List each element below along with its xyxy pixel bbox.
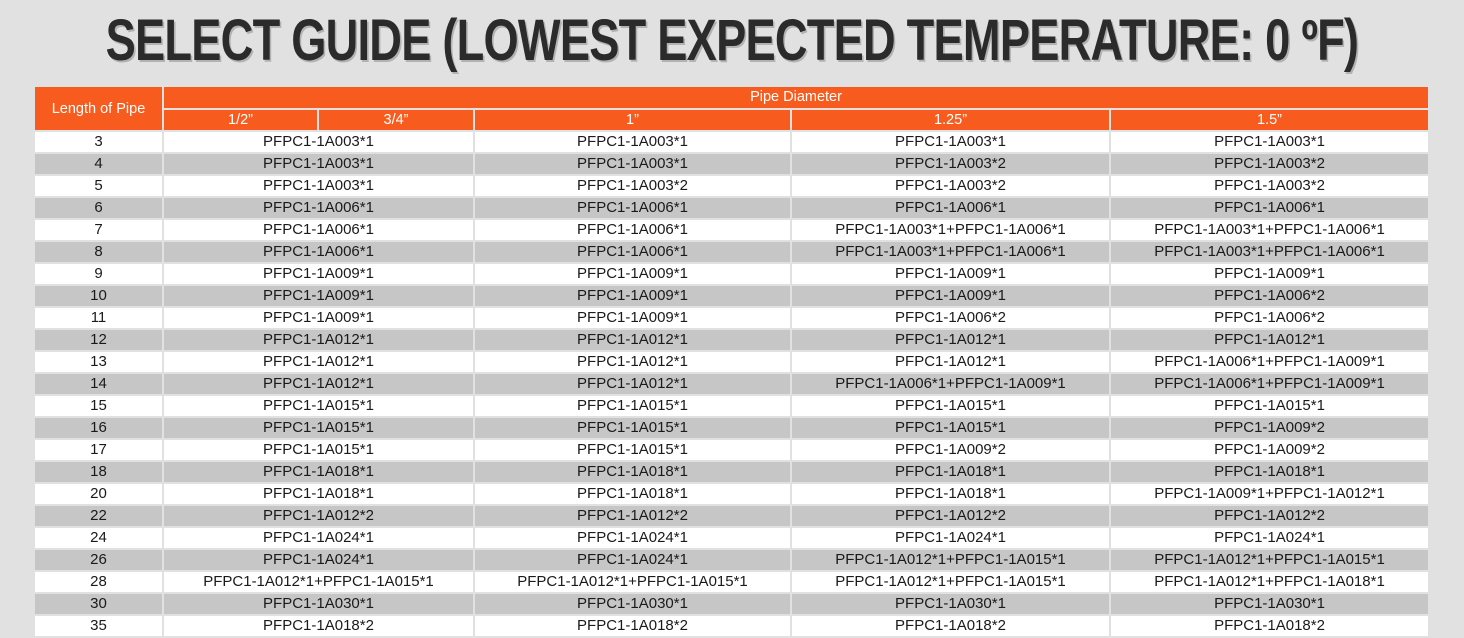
cell-one-inch: PFPC1-1A012*1+PFPC1-1A015*1	[475, 572, 790, 592]
cell-one-inch: PFPC1-1A009*1	[475, 264, 790, 284]
cell-one-quarter-inch: PFPC1-1A006*1+PFPC1-1A009*1	[792, 374, 1109, 394]
table-header-row-sizes: 1/2” 3/4” 1” 1.25” 1.5”	[35, 110, 1428, 130]
cell-one-inch: PFPC1-1A018*2	[475, 616, 790, 636]
cell-length-of-pipe: 4	[35, 154, 162, 174]
cell-half-and-three-quarter-inch: PFPC1-1A006*1	[164, 198, 473, 218]
cell-one-half-inch: PFPC1-1A012*2	[1111, 506, 1428, 526]
cell-half-and-three-quarter-inch: PFPC1-1A012*2	[164, 506, 473, 526]
table-row: 18PFPC1-1A018*1PFPC1-1A018*1PFPC1-1A018*…	[35, 462, 1428, 482]
cell-one-quarter-inch: PFPC1-1A006*2	[792, 308, 1109, 328]
cell-one-inch: PFPC1-1A024*1	[475, 550, 790, 570]
cell-half-and-three-quarter-inch: PFPC1-1A012*1+PFPC1-1A015*1	[164, 572, 473, 592]
cell-one-half-inch: PFPC1-1A012*1+PFPC1-1A015*1	[1111, 550, 1428, 570]
cell-length-of-pipe: 5	[35, 176, 162, 196]
cell-half-and-three-quarter-inch: PFPC1-1A012*1	[164, 352, 473, 372]
cell-length-of-pipe: 17	[35, 440, 162, 460]
cell-one-half-inch: PFPC1-1A024*1	[1111, 528, 1428, 548]
cell-one-half-inch: PFPC1-1A030*1	[1111, 594, 1428, 614]
cell-one-half-inch: PFPC1-1A018*2	[1111, 616, 1428, 636]
cell-half-and-three-quarter-inch: PFPC1-1A012*1	[164, 330, 473, 350]
table-row: 5PFPC1-1A003*1PFPC1-1A003*2PFPC1-1A003*2…	[35, 176, 1428, 196]
cell-one-half-inch: PFPC1-1A009*1	[1111, 264, 1428, 284]
cell-half-and-three-quarter-inch: PFPC1-1A012*1	[164, 374, 473, 394]
cell-one-inch: PFPC1-1A015*1	[475, 396, 790, 416]
table-row: 9PFPC1-1A009*1PFPC1-1A009*1PFPC1-1A009*1…	[35, 264, 1428, 284]
cell-length-of-pipe: 6	[35, 198, 162, 218]
cell-length-of-pipe: 14	[35, 374, 162, 394]
cell-length-of-pipe: 30	[35, 594, 162, 614]
cell-length-of-pipe: 15	[35, 396, 162, 416]
cell-one-inch: PFPC1-1A015*1	[475, 418, 790, 438]
cell-half-and-three-quarter-inch: PFPC1-1A018*1	[164, 462, 473, 482]
column-header-half-inch: 1/2”	[164, 110, 317, 130]
cell-one-half-inch: PFPC1-1A006*1	[1111, 198, 1428, 218]
table-row: 3PFPC1-1A003*1PFPC1-1A003*1PFPC1-1A003*1…	[35, 132, 1428, 152]
table-row: 10PFPC1-1A009*1PFPC1-1A009*1PFPC1-1A009*…	[35, 286, 1428, 306]
pipe-select-guide-table: Length of Pipe Pipe Diameter 1/2” 3/4” 1…	[33, 85, 1430, 638]
table-row: 16PFPC1-1A015*1PFPC1-1A015*1PFPC1-1A015*…	[35, 418, 1428, 438]
cell-one-half-inch: PFPC1-1A015*1	[1111, 396, 1428, 416]
cell-one-quarter-inch: PFPC1-1A012*1	[792, 352, 1109, 372]
cell-length-of-pipe: 10	[35, 286, 162, 306]
cell-one-quarter-inch: PFPC1-1A015*1	[792, 418, 1109, 438]
cell-one-inch: PFPC1-1A015*1	[475, 440, 790, 460]
cell-length-of-pipe: 26	[35, 550, 162, 570]
cell-one-quarter-inch: PFPC1-1A003*1	[792, 132, 1109, 152]
cell-one-half-inch: PFPC1-1A009*1+PFPC1-1A012*1	[1111, 484, 1428, 504]
table-row: 13PFPC1-1A012*1PFPC1-1A012*1PFPC1-1A012*…	[35, 352, 1428, 372]
column-header-one-inch: 1”	[475, 110, 790, 130]
table-row: 17PFPC1-1A015*1PFPC1-1A015*1PFPC1-1A009*…	[35, 440, 1428, 460]
cell-one-quarter-inch: PFPC1-1A003*2	[792, 176, 1109, 196]
cell-one-half-inch: PFPC1-1A018*1	[1111, 462, 1428, 482]
cell-one-inch: PFPC1-1A006*1	[475, 242, 790, 262]
cell-half-and-three-quarter-inch: PFPC1-1A015*1	[164, 440, 473, 460]
table-row: 20PFPC1-1A018*1PFPC1-1A018*1PFPC1-1A018*…	[35, 484, 1428, 504]
cell-one-quarter-inch: PFPC1-1A018*1	[792, 462, 1109, 482]
cell-half-and-three-quarter-inch: PFPC1-1A006*1	[164, 220, 473, 240]
cell-length-of-pipe: 35	[35, 616, 162, 636]
cell-length-of-pipe: 7	[35, 220, 162, 240]
cell-half-and-three-quarter-inch: PFPC1-1A009*1	[164, 308, 473, 328]
table-row: 24PFPC1-1A024*1PFPC1-1A024*1PFPC1-1A024*…	[35, 528, 1428, 548]
cell-one-half-inch: PFPC1-1A006*2	[1111, 308, 1428, 328]
table-row: 6PFPC1-1A006*1PFPC1-1A006*1PFPC1-1A006*1…	[35, 198, 1428, 218]
cell-length-of-pipe: 16	[35, 418, 162, 438]
cell-one-half-inch: PFPC1-1A006*1+PFPC1-1A009*1	[1111, 352, 1428, 372]
cell-half-and-three-quarter-inch: PFPC1-1A015*1	[164, 418, 473, 438]
cell-one-half-inch: PFPC1-1A009*2	[1111, 418, 1428, 438]
cell-one-quarter-inch: PFPC1-1A009*1	[792, 264, 1109, 284]
cell-one-quarter-inch: PFPC1-1A018*2	[792, 616, 1109, 636]
table-header: Length of Pipe Pipe Diameter 1/2” 3/4” 1…	[35, 87, 1428, 130]
cell-length-of-pipe: 9	[35, 264, 162, 284]
cell-length-of-pipe: 28	[35, 572, 162, 592]
cell-one-half-inch: PFPC1-1A003*1+PFPC1-1A006*1	[1111, 242, 1428, 262]
table-row: 26PFPC1-1A024*1PFPC1-1A024*1PFPC1-1A012*…	[35, 550, 1428, 570]
title-container: SELECT GUIDE (LOWEST EXPECTED TEMPERATUR…	[0, 6, 1464, 76]
cell-one-inch: PFPC1-1A012*2	[475, 506, 790, 526]
column-header-pipe-diameter: Pipe Diameter	[164, 87, 1428, 108]
column-header-one-half-inch: 1.5”	[1111, 110, 1428, 130]
cell-half-and-three-quarter-inch: PFPC1-1A003*1	[164, 176, 473, 196]
cell-one-half-inch: PFPC1-1A003*1+PFPC1-1A006*1	[1111, 220, 1428, 240]
cell-one-inch: PFPC1-1A003*2	[475, 176, 790, 196]
cell-one-inch: PFPC1-1A009*1	[475, 286, 790, 306]
cell-one-half-inch: PFPC1-1A012*1	[1111, 330, 1428, 350]
table-header-row-group: Length of Pipe Pipe Diameter	[35, 87, 1428, 108]
cell-length-of-pipe: 13	[35, 352, 162, 372]
cell-one-quarter-inch: PFPC1-1A009*1	[792, 286, 1109, 306]
cell-one-half-inch: PFPC1-1A003*2	[1111, 154, 1428, 174]
table-row: 12PFPC1-1A012*1PFPC1-1A012*1PFPC1-1A012*…	[35, 330, 1428, 350]
cell-one-quarter-inch: PFPC1-1A003*2	[792, 154, 1109, 174]
cell-half-and-three-quarter-inch: PFPC1-1A018*2	[164, 616, 473, 636]
cell-one-inch: PFPC1-1A012*1	[475, 352, 790, 372]
cell-one-inch: PFPC1-1A018*1	[475, 484, 790, 504]
cell-length-of-pipe: 22	[35, 506, 162, 526]
cell-one-quarter-inch: PFPC1-1A018*1	[792, 484, 1109, 504]
cell-half-and-three-quarter-inch: PFPC1-1A009*1	[164, 286, 473, 306]
cell-one-half-inch: PFPC1-1A006*2	[1111, 286, 1428, 306]
cell-one-inch: PFPC1-1A006*1	[475, 220, 790, 240]
table-row: 28PFPC1-1A012*1+PFPC1-1A015*1PFPC1-1A012…	[35, 572, 1428, 592]
cell-one-inch: PFPC1-1A024*1	[475, 528, 790, 548]
cell-one-half-inch: PFPC1-1A012*1+PFPC1-1A018*1	[1111, 572, 1428, 592]
column-header-one-quarter-inch: 1.25”	[792, 110, 1109, 130]
cell-one-quarter-inch: PFPC1-1A030*1	[792, 594, 1109, 614]
cell-half-and-three-quarter-inch: PFPC1-1A003*1	[164, 154, 473, 174]
cell-one-half-inch: PFPC1-1A003*2	[1111, 176, 1428, 196]
cell-one-quarter-inch: PFPC1-1A015*1	[792, 396, 1109, 416]
cell-length-of-pipe: 3	[35, 132, 162, 152]
table-row: 8PFPC1-1A006*1PFPC1-1A006*1PFPC1-1A003*1…	[35, 242, 1428, 262]
cell-length-of-pipe: 18	[35, 462, 162, 482]
cell-one-quarter-inch: PFPC1-1A009*2	[792, 440, 1109, 460]
cell-half-and-three-quarter-inch: PFPC1-1A015*1	[164, 396, 473, 416]
cell-one-inch: PFPC1-1A009*1	[475, 308, 790, 328]
table-row: 14PFPC1-1A012*1PFPC1-1A012*1PFPC1-1A006*…	[35, 374, 1428, 394]
table-row: 22PFPC1-1A012*2PFPC1-1A012*2PFPC1-1A012*…	[35, 506, 1428, 526]
table-row: 7PFPC1-1A006*1PFPC1-1A006*1PFPC1-1A003*1…	[35, 220, 1428, 240]
table-row: 35PFPC1-1A018*2PFPC1-1A018*2PFPC1-1A018*…	[35, 616, 1428, 636]
cell-one-inch: PFPC1-1A012*1	[475, 330, 790, 350]
table-row: 11PFPC1-1A009*1PFPC1-1A009*1PFPC1-1A006*…	[35, 308, 1428, 328]
cell-length-of-pipe: 11	[35, 308, 162, 328]
cell-one-inch: PFPC1-1A003*1	[475, 132, 790, 152]
cell-half-and-three-quarter-inch: PFPC1-1A024*1	[164, 550, 473, 570]
cell-one-half-inch: PFPC1-1A006*1+PFPC1-1A009*1	[1111, 374, 1428, 394]
table-row: 4PFPC1-1A003*1PFPC1-1A003*1PFPC1-1A003*2…	[35, 154, 1428, 174]
cell-one-inch: PFPC1-1A018*1	[475, 462, 790, 482]
select-guide-page: SELECT GUIDE (LOWEST EXPECTED TEMPERATUR…	[0, 0, 1464, 600]
cell-half-and-three-quarter-inch: PFPC1-1A024*1	[164, 528, 473, 548]
cell-half-and-three-quarter-inch: PFPC1-1A018*1	[164, 484, 473, 504]
cell-one-half-inch: PFPC1-1A003*1	[1111, 132, 1428, 152]
cell-one-quarter-inch: PFPC1-1A003*1+PFPC1-1A006*1	[792, 220, 1109, 240]
cell-one-quarter-inch: PFPC1-1A024*1	[792, 528, 1109, 548]
cell-one-half-inch: PFPC1-1A009*2	[1111, 440, 1428, 460]
cell-one-quarter-inch: PFPC1-1A012*1+PFPC1-1A015*1	[792, 550, 1109, 570]
table-row: 15PFPC1-1A015*1PFPC1-1A015*1PFPC1-1A015*…	[35, 396, 1428, 416]
cell-one-inch: PFPC1-1A003*1	[475, 154, 790, 174]
table-row: 30PFPC1-1A030*1PFPC1-1A030*1PFPC1-1A030*…	[35, 594, 1428, 614]
cell-half-and-three-quarter-inch: PFPC1-1A006*1	[164, 242, 473, 262]
cell-one-inch: PFPC1-1A006*1	[475, 198, 790, 218]
table-body: 3PFPC1-1A003*1PFPC1-1A003*1PFPC1-1A003*1…	[35, 132, 1428, 636]
cell-half-and-three-quarter-inch: PFPC1-1A009*1	[164, 264, 473, 284]
column-header-length-of-pipe: Length of Pipe	[35, 87, 162, 130]
cell-one-quarter-inch: PFPC1-1A006*1	[792, 198, 1109, 218]
cell-one-inch: PFPC1-1A030*1	[475, 594, 790, 614]
cell-length-of-pipe: 24	[35, 528, 162, 548]
cell-one-inch: PFPC1-1A012*1	[475, 374, 790, 394]
cell-length-of-pipe: 8	[35, 242, 162, 262]
cell-half-and-three-quarter-inch: PFPC1-1A030*1	[164, 594, 473, 614]
page-title: SELECT GUIDE (LOWEST EXPECTED TEMPERATUR…	[106, 10, 1359, 72]
cell-one-quarter-inch: PFPC1-1A012*2	[792, 506, 1109, 526]
cell-one-quarter-inch: PFPC1-1A012*1	[792, 330, 1109, 350]
column-header-three-quarter-inch: 3/4”	[319, 110, 473, 130]
cell-half-and-three-quarter-inch: PFPC1-1A003*1	[164, 132, 473, 152]
cell-length-of-pipe: 12	[35, 330, 162, 350]
cell-one-quarter-inch: PFPC1-1A003*1+PFPC1-1A006*1	[792, 242, 1109, 262]
cell-one-quarter-inch: PFPC1-1A012*1+PFPC1-1A015*1	[792, 572, 1109, 592]
cell-length-of-pipe: 20	[35, 484, 162, 504]
